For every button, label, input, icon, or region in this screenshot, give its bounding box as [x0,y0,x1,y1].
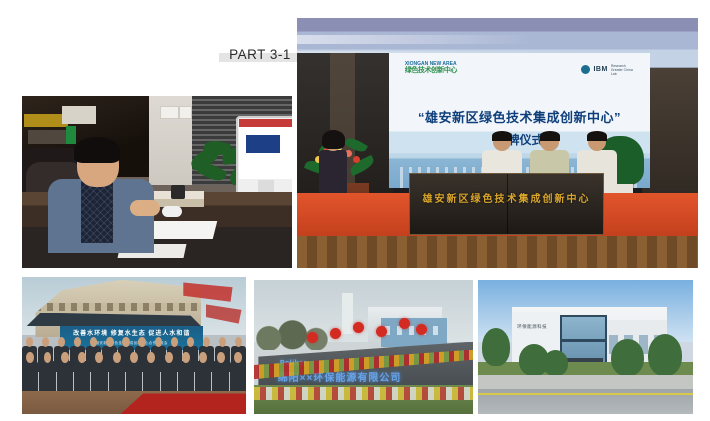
slide-canvas: PART 3-1 [0,0,710,421]
partner-mark-icon [581,65,590,74]
imac-screen-content [246,135,280,153]
screen-org-logo-line2: 绿色技术创新中心 [405,67,457,75]
photo-company-gate[interactable]: Poliker 绵阳××环保能源有限公司 [254,280,473,414]
ceremony-wall-right [642,68,698,208]
ceremony-host [317,133,349,198]
screen-title: “雄安新区绿色技术集成创新中心” [389,107,650,126]
partner-brand-name: IBM [593,66,607,73]
official-3-hair [587,131,607,141]
building-tree-1 [482,328,510,366]
photo-office-building[interactable]: 环保能源科技 [478,280,693,414]
section-label: PART 3-1 [219,40,301,62]
partner-sub-name: Research Greater China Lab [611,64,637,76]
building-sidewalk [478,375,693,388]
group-banner-line2: 雄安新区绿色技术集成创新中心合作交流会 [60,340,203,345]
ceremony-plaque: 雄安新区绿色技术集成创新中心 [409,173,603,235]
screen-partner-logo: IBM Research Greater China Lab [581,64,636,76]
building-tree-3 [543,350,569,377]
section-label-text: PART 3-1 [229,47,291,62]
gate-lanterns [302,315,429,347]
screen-org-logo: XIONGAN NEW AREA 绿色技术创新中心 [405,61,457,75]
building-sign-text: 环保能源科技 [517,324,547,330]
office-shelf-item-2 [62,106,96,124]
plaque-divider [507,174,508,234]
photo-ceremony[interactable]: XIONGAN NEW AREA 绿色技术创新中心 IBM Research G… [297,18,698,268]
building-tree-4 [611,339,643,377]
imac-screen-topbar [239,119,292,127]
host-body [319,150,347,198]
host-hair [322,130,345,148]
photo-office-portrait[interactable] [22,96,292,268]
office-person-hair [74,137,120,163]
office-mouse [162,206,182,217]
building-road [478,389,693,414]
official-2-hair [540,131,560,141]
office-person-shirt [81,181,113,243]
group-banner-line1: 改善水环境 修复水生态 促进人水和谐 [60,328,203,337]
office-wall-switch-1 [160,106,179,119]
group-row-front [22,361,246,392]
imac-screen [239,119,292,179]
office-imac-monitor [236,116,292,200]
building-tree-5 [648,334,682,377]
office-person-hand [130,200,160,216]
gate-lower-garden [254,385,473,414]
photo-group[interactable]: 改善水环境 修复水生态 促进人水和谐 雄安新区绿色技术集成创新中心合作交流会 [22,277,246,414]
official-1-hair [492,131,512,141]
group-people-rows [22,346,246,393]
ceremony-stage-front [297,236,698,269]
office-wall-switch-2 [179,106,192,119]
office-pen-holder [171,185,185,199]
